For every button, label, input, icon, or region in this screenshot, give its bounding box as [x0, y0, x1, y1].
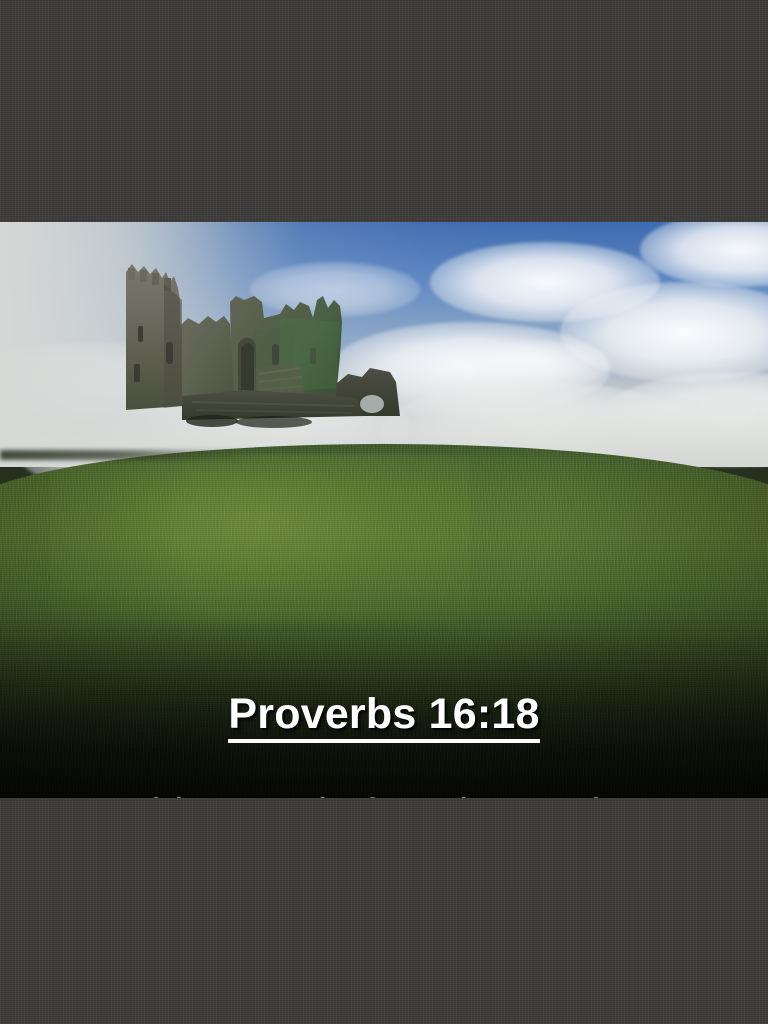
scripture-slide: Proverbs 16:18 Pride goes before destruc… [0, 222, 768, 798]
distant-treeline [0, 450, 260, 460]
scripture-reference-text: Proverbs 16:18 [228, 693, 539, 743]
page-background: Proverbs 16:18 Pride goes before destruc… [0, 0, 768, 1024]
scripture-reference-title: Proverbs 16:18 [0, 690, 768, 743]
scripture-verse-text: Pride goes before destruction, a haughty… [0, 785, 768, 798]
verse-line-1: Pride goes before destruction, [0, 785, 768, 798]
castle-ruin-illustration [104, 256, 440, 456]
grass-vignette [0, 444, 768, 798]
grass-field [0, 444, 768, 798]
